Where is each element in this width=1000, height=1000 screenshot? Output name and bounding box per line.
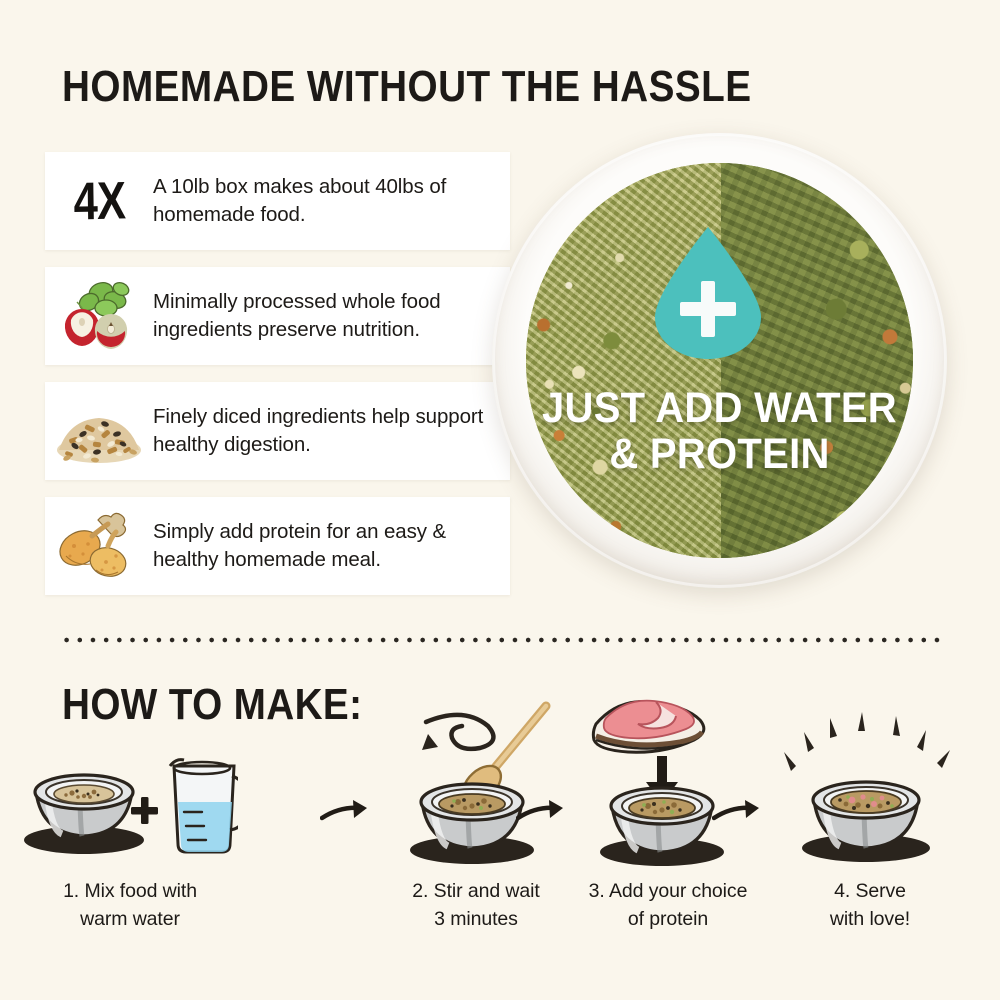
bowl-caption-line-2: & PROTEIN: [508, 432, 931, 478]
bowl-overlay-caption: JUST ADD WATER & PROTEIN: [508, 386, 931, 477]
step-caption-line-1: 2. Stir and wait: [368, 878, 584, 906]
apple-spinach-icon: [45, 267, 153, 365]
arrow-right-icon-3: [712, 798, 768, 832]
bowl-plus-measuring-cup-icon: [22, 690, 238, 875]
plus-sign-icon: [680, 281, 736, 337]
step-caption-line-2: 3 minutes: [368, 906, 584, 934]
step-caption-line-2: warm water: [22, 906, 238, 934]
step-caption: 2. Stir and wait 3 minutes: [368, 878, 584, 933]
steak-into-bowl-icon: [560, 690, 776, 875]
howto-step-4: 4. Serve with love!: [762, 690, 978, 960]
howto-steps: 1. Mix food with warm water: [0, 690, 1000, 960]
feature-text: Minimally processed whole food ingredien…: [153, 288, 510, 345]
step-caption-line-1: 4. Serve: [762, 878, 978, 906]
feature-card-1: 4X A 10lb box makes about 40lbs of homem…: [45, 152, 510, 250]
step-caption: 3. Add your choice of protein: [560, 878, 776, 933]
feature-text: Simply add protein for an easy & healthy…: [153, 518, 510, 575]
water-droplet-icon: [649, 223, 767, 363]
feature-card-2: Minimally processed whole food ingredien…: [45, 267, 510, 365]
bowl-with-spoon-stir-icon: [368, 690, 584, 875]
feature-card-3: Finely diced ingredients help support he…: [45, 382, 510, 480]
dotted-divider: [60, 637, 946, 643]
plus-glyph: [131, 797, 158, 824]
step-caption: 4. Serve with love!: [762, 878, 978, 933]
step-caption-line-2: of protein: [560, 906, 776, 934]
feature-text: A 10lb box makes about 40lbs of homemade…: [153, 173, 510, 230]
step-caption-line-1: 3. Add your choice: [560, 878, 776, 906]
feature-badge-4x: 4X: [73, 170, 125, 232]
feature-list: 4X A 10lb box makes about 40lbs of homem…: [45, 152, 510, 612]
step-caption: 1. Mix food with warm water: [22, 878, 238, 933]
product-bowl-image: JUST ADD WATER & PROTEIN: [492, 133, 947, 588]
feature-text: Finely diced ingredients help support he…: [153, 403, 510, 460]
step-caption-line-2: with love!: [762, 906, 978, 934]
finished-bowl-sparkle-icon: [762, 690, 978, 875]
page-title: HOMEMADE WITHOUT THE HASSLE: [62, 62, 751, 112]
bowl-caption-line-1: JUST ADD WATER: [508, 386, 931, 432]
step-caption-line-1: 1. Mix food with: [22, 878, 238, 906]
feature-card-4: Simply add protein for an easy & healthy…: [45, 497, 510, 595]
4x-multiplier-icon: 4X: [45, 152, 153, 250]
product-infographic: HOMEMADE WITHOUT THE HASSLE 4X A 10lb bo…: [0, 0, 1000, 1000]
chicken-drumsticks-icon: [45, 497, 153, 595]
diced-grains-icon: [45, 382, 153, 480]
howto-step-1: 1. Mix food with warm water: [22, 690, 238, 960]
